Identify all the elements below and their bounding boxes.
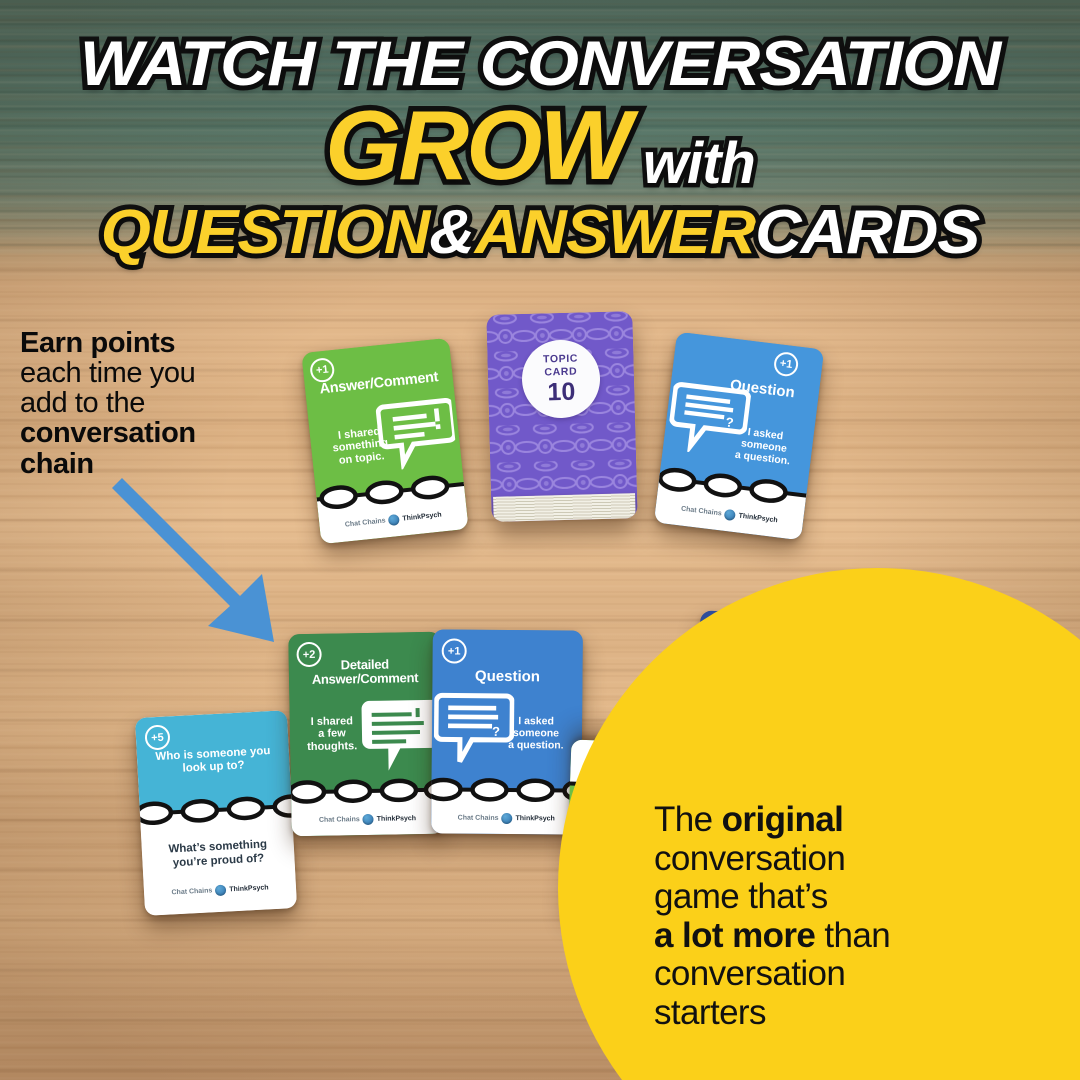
headline-cards-word: CARDS [755, 198, 979, 267]
topic-card-deck[interactable]: TOPIC CARD 10 [486, 311, 637, 522]
thinkpsych-globe-icon [388, 514, 400, 526]
callout-line-3: add to the [20, 388, 288, 418]
speech-bubble-exclaim-icon [375, 394, 458, 472]
down-right-arrow-icon [112, 470, 312, 650]
brand-logo: Chat Chains ThinkPsych [291, 813, 443, 827]
card-subtitle: I shared a few thoughts. [298, 715, 367, 753]
headline-answer-word: ANSWER [475, 198, 755, 267]
card-topic-question[interactable]: +5 Who is someone you look up to? What’s… [135, 710, 297, 916]
topic-card-back: TOPIC CARD 10 [486, 311, 637, 522]
yellow-line-3: game that’s [654, 878, 1066, 917]
brand-logo: Chat Chains ThinkPsych [655, 500, 803, 529]
yellow-line-5: conversation [654, 955, 1066, 994]
deck-card-edges [493, 493, 636, 522]
headline-with-word: with [643, 131, 755, 196]
yellow-line-1-bold: original [722, 800, 844, 839]
card-question-top[interactable]: +1 Question ? I asked someone a question… [654, 332, 824, 541]
thinkpsych-globe-icon [363, 814, 374, 825]
card-title: Answer/Comment [315, 370, 444, 399]
card-subtitle: I asked someone a question. [496, 716, 576, 752]
yellow-line-4-bold: a lot more [654, 916, 815, 955]
card-subtitle: I asked someone a question. [722, 424, 806, 469]
card-answer-comment-top[interactable]: +1 Answer/Comment I shared something on … [301, 338, 468, 544]
thinkpsych-globe-icon [724, 509, 736, 521]
headline-line-3: QUESTION&ANSWERCARDS [0, 203, 1080, 263]
thinkpsych-globe-icon [501, 813, 512, 824]
headline-ampersand: & [429, 198, 475, 267]
callout-line-5: chain [20, 448, 94, 480]
points-badge: +1 [773, 351, 800, 378]
headline-line-1: WATCH THE CONVERSATION [0, 34, 1080, 94]
headline-question-word: QUESTION [101, 198, 429, 267]
headline-block: WATCH THE CONVERSATION GROWwith QUESTION… [0, 34, 1080, 262]
yellow-line-6: starters [654, 994, 1066, 1033]
callout-line-2: each time you [20, 358, 288, 388]
brand-logo: Chat Chains ThinkPsych [144, 881, 296, 900]
headline-line-2: GROWwith [0, 98, 1080, 192]
brand-logo: Chat Chains ThinkPsych [319, 507, 467, 533]
callout-line-4: conversation [20, 417, 196, 449]
card-question-bottom[interactable]: +1 Question ? I asked someone a question… [431, 629, 583, 834]
points-badge: +1 [442, 638, 467, 663]
yellow-line-1-prefix: The [654, 800, 722, 839]
brand-logo: Chat Chains ThinkPsych [431, 812, 581, 824]
yellow-line-2: conversation [654, 840, 1066, 879]
speech-bubble-detailed-icon [359, 698, 440, 775]
product-promo-image: WATCH THE CONVERSATION GROWwith QUESTION… [0, 0, 1080, 1080]
earn-points-callout: Earn points each time you add to the con… [20, 328, 288, 479]
headline-grow-word: GROW [325, 90, 629, 200]
thinkpsych-globe-icon [215, 884, 227, 896]
yellow-line-4-suffix: than [815, 916, 890, 955]
card-question-bottom: What’s something you’re proud of? [140, 806, 295, 873]
yellow-badge-text: The original conversation game that’s a … [654, 801, 1066, 1032]
card-title: Question [442, 668, 572, 685]
callout-line-1: Earn points [20, 327, 175, 359]
card-detailed-answer-comment[interactable]: +2 Detailed Answer/Comment I shared a fe… [288, 632, 444, 837]
